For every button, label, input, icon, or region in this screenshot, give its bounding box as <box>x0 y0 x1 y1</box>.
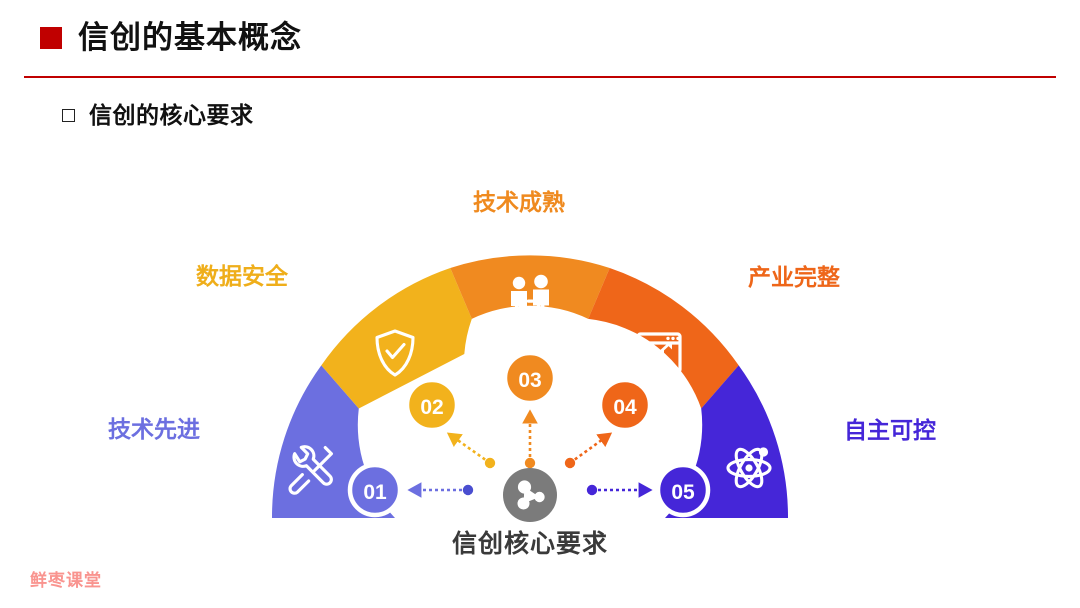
connector-03 <box>525 412 535 468</box>
segment-label-03: 技术成熟 <box>473 191 565 214</box>
segment-label-05: 自主可控 <box>844 419 936 442</box>
segment-number-04[interactable]: 04 <box>600 380 650 430</box>
slide-header: 信创的基本概念 <box>0 0 1080 78</box>
segment-label-02: 数据安全 <box>196 265 288 288</box>
segment-number-05[interactable]: 05 <box>658 465 708 515</box>
title-bullet-icon <box>40 27 62 49</box>
segment-number-text-03: 03 <box>518 369 541 392</box>
section-subtitle: 信创的核心要求 <box>89 104 254 127</box>
connector-05 <box>587 485 650 495</box>
title-divider <box>24 76 1056 78</box>
page-title-row: 信创的基本概念 <box>40 22 302 53</box>
connector-04 <box>565 434 610 468</box>
segment-05[interactable]: 05 <box>658 365 788 518</box>
segment-number-03[interactable]: 03 <box>505 353 555 403</box>
segment-number-02[interactable]: 02 <box>407 380 457 430</box>
slide-canvas: 信创的基本概念 信创的核心要求 <box>0 0 1080 608</box>
segment-number-text-01: 01 <box>363 481 387 504</box>
segment-number-text-04: 04 <box>613 396 637 419</box>
page-title: 信创的基本概念 <box>78 22 302 53</box>
watermark: 鲜枣课堂 <box>30 566 102 591</box>
connector-02 <box>449 434 495 468</box>
segment-number-text-02: 02 <box>420 396 443 419</box>
segment-number-01[interactable]: 01 <box>350 465 400 515</box>
segment-label-04: 产业完整 <box>748 266 840 289</box>
segment-number-text-05: 05 <box>671 481 695 504</box>
diagram-center-caption: 信创核心要求 <box>0 524 1060 560</box>
segment-label-01: 技术先进 <box>108 418 200 441</box>
center-hub[interactable] <box>503 468 557 522</box>
subtitle-bullet-icon <box>62 109 75 122</box>
segment-03[interactable]: 03 <box>450 255 609 403</box>
section-subtitle-row: 信创的核心要求 <box>62 104 254 127</box>
connector-01 <box>410 485 473 495</box>
